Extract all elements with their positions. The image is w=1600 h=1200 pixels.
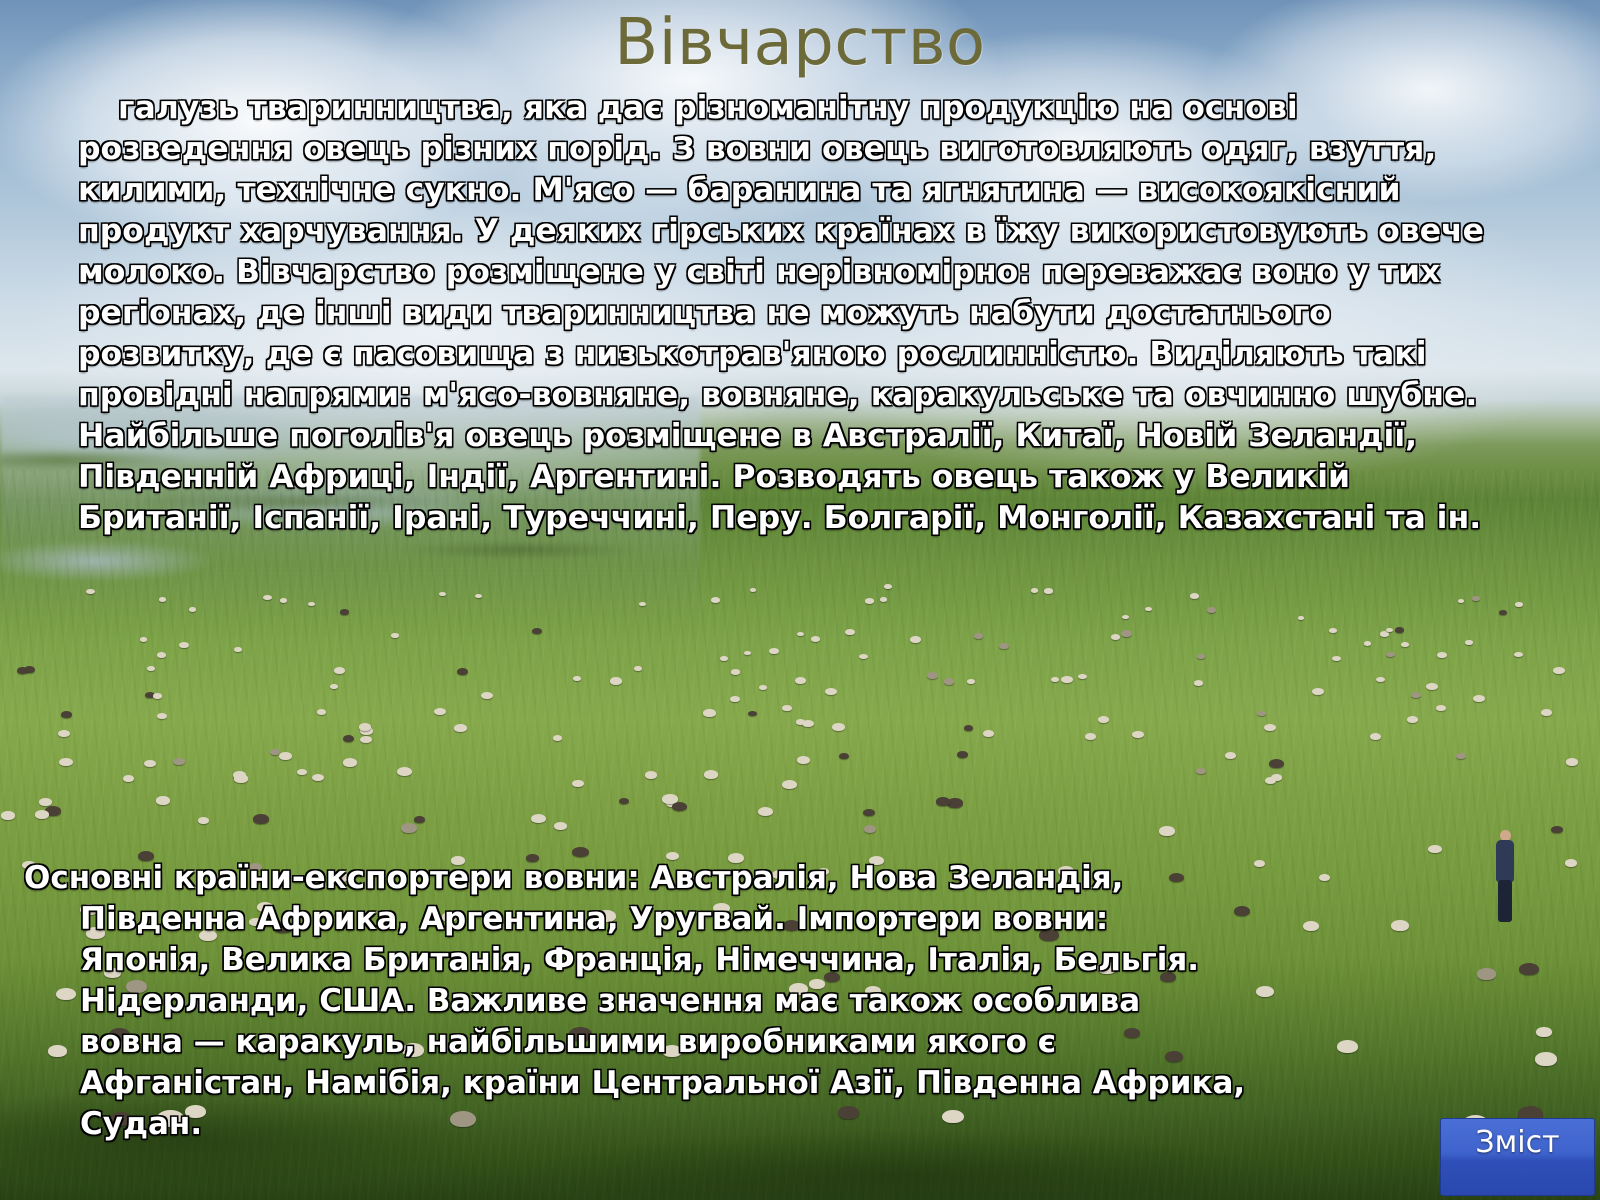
secondary-line: Судан.	[24, 1104, 1576, 1145]
sheep	[147, 666, 155, 671]
sheep	[884, 584, 892, 589]
sheep	[1553, 667, 1565, 674]
sheep	[845, 629, 855, 635]
sheep	[797, 632, 804, 636]
sheep	[253, 814, 269, 824]
sheep	[1472, 596, 1480, 601]
sheep	[797, 756, 810, 764]
page-title: Вівчарство	[0, 6, 1600, 80]
sheep	[1312, 688, 1324, 695]
sheep	[263, 595, 272, 600]
sheep	[711, 597, 720, 603]
sheep	[343, 758, 357, 767]
sheep	[983, 730, 994, 737]
sheep	[434, 708, 446, 715]
sheep	[234, 647, 242, 652]
sheep	[864, 825, 876, 833]
sheep	[1051, 677, 1059, 682]
sheep	[1411, 692, 1421, 698]
secondary-line: Південна Африка, Аргентина, Уругвай. Імп…	[24, 899, 1576, 940]
sheep	[967, 679, 975, 684]
sheep	[330, 684, 338, 689]
sheep	[1111, 634, 1120, 640]
sheep	[944, 678, 954, 685]
sheep	[481, 692, 493, 699]
secondary-line: Японія, Велика Британія, Франція, Німечч…	[24, 940, 1576, 981]
presentation-slide: Вівчарство галузь тваринництва, яка дає …	[0, 0, 1600, 1200]
sheep	[531, 814, 546, 823]
sheep	[748, 711, 757, 716]
sheep	[974, 633, 983, 639]
sheep	[1401, 642, 1409, 647]
main-paragraph-text: галузь тваринництва, яка дає різноманітн…	[78, 90, 1484, 536]
sheep	[1436, 705, 1446, 711]
sheep	[1332, 656, 1341, 661]
sheep	[1395, 627, 1404, 633]
sheep	[880, 597, 887, 602]
sheep	[198, 817, 209, 824]
sheep	[1428, 845, 1442, 853]
sheep	[1364, 641, 1371, 646]
sheep	[308, 602, 315, 606]
sheep	[1551, 826, 1563, 833]
sheep	[634, 666, 642, 671]
sheep	[280, 598, 287, 603]
sheep	[1386, 652, 1395, 657]
sheep	[553, 735, 562, 741]
sheep	[1196, 768, 1206, 774]
sheep	[704, 770, 718, 779]
sheep	[1426, 683, 1438, 690]
sheep	[1514, 652, 1523, 657]
sheep	[17, 667, 28, 674]
sheep	[457, 668, 468, 675]
sheep	[795, 677, 806, 684]
sheep	[401, 823, 417, 833]
sheep	[312, 774, 324, 781]
sheep	[927, 672, 938, 679]
sheep	[639, 602, 646, 606]
sheep	[957, 751, 968, 758]
sheep	[573, 676, 581, 681]
sheep	[1541, 709, 1552, 716]
sheep	[1437, 652, 1447, 658]
sheep	[1566, 758, 1578, 766]
sheep	[1298, 616, 1304, 620]
sheep	[782, 780, 797, 789]
sheep	[1121, 630, 1132, 637]
sheep	[61, 711, 72, 718]
sheep	[159, 597, 166, 602]
sheep	[1044, 588, 1053, 594]
sheep	[1370, 733, 1381, 740]
sheep	[1122, 615, 1129, 619]
sheep	[832, 723, 845, 731]
sheep	[703, 709, 716, 717]
sheep	[39, 798, 52, 806]
sheep	[1132, 731, 1144, 738]
sheep	[1458, 599, 1464, 603]
sheep	[179, 642, 189, 648]
sheep	[334, 667, 345, 674]
sheep	[1465, 640, 1473, 645]
sheep	[863, 809, 875, 816]
sheep	[340, 609, 349, 615]
sheep	[759, 685, 767, 690]
sheep	[359, 723, 371, 731]
sheep	[156, 796, 170, 805]
sheep	[1061, 676, 1073, 683]
sheep	[758, 807, 773, 816]
sheep	[532, 628, 542, 634]
sheep	[360, 736, 372, 743]
sheep	[297, 769, 307, 775]
secondary-line: Нідерланди, США. Важливе значення має та…	[24, 981, 1576, 1022]
sheep	[1269, 759, 1284, 768]
sheep	[744, 651, 751, 655]
sheep	[1456, 753, 1466, 759]
sheep	[35, 810, 49, 819]
sheep	[769, 648, 779, 654]
sheep	[1190, 593, 1199, 599]
sheep	[1515, 602, 1523, 607]
sheep	[1085, 733, 1096, 740]
sheep	[1473, 695, 1485, 702]
sheep	[999, 643, 1009, 649]
sheep	[153, 693, 162, 699]
sheep	[391, 633, 399, 638]
sheep	[672, 802, 687, 811]
sheep	[1376, 677, 1385, 682]
secondary-line: вовна — каракуль, найбільшими виробникам…	[24, 1022, 1576, 1063]
sheep	[1197, 654, 1205, 659]
sheep	[572, 847, 589, 857]
sheep	[317, 709, 326, 715]
sheep	[1329, 628, 1337, 633]
sheep	[454, 724, 467, 732]
sheep	[343, 735, 354, 742]
sheep	[397, 767, 412, 776]
sheep	[123, 775, 134, 782]
sheep	[1207, 607, 1216, 613]
sheep	[1499, 610, 1507, 615]
sheep	[720, 656, 728, 661]
sheep	[1145, 607, 1152, 611]
sheep	[865, 598, 874, 604]
secondary-line: Основні країни-експортери вовни: Австрал…	[24, 858, 1576, 899]
sheep	[1407, 716, 1418, 723]
sheep	[140, 637, 147, 642]
sheep	[86, 589, 95, 594]
sheep	[1194, 680, 1203, 686]
sheep	[1225, 752, 1236, 759]
sheep	[645, 771, 657, 779]
sheep	[811, 636, 820, 642]
sheep	[59, 758, 73, 766]
sheep	[144, 760, 156, 767]
sheep	[859, 654, 868, 659]
sheep	[1098, 716, 1109, 723]
sheep	[610, 677, 622, 685]
sheep	[1265, 777, 1276, 784]
sheep	[157, 652, 166, 658]
sheep	[414, 816, 425, 823]
table-of-contents-button[interactable]: Зміст	[1440, 1118, 1595, 1196]
sheep	[173, 758, 185, 765]
sheep	[58, 730, 70, 737]
sheep	[731, 669, 740, 675]
sheep	[1078, 674, 1087, 679]
sheep	[1159, 826, 1175, 836]
sheep	[619, 798, 629, 804]
sheep	[1031, 588, 1038, 593]
sheep	[936, 797, 950, 806]
sheep	[839, 753, 849, 759]
sheep	[1386, 628, 1393, 632]
sheep	[782, 705, 792, 711]
sheep	[1, 811, 15, 820]
table-of-contents-button-label: Зміст	[1475, 1125, 1559, 1160]
sheep	[910, 636, 921, 643]
sheep	[730, 696, 740, 702]
sheep	[802, 720, 814, 727]
sheep	[439, 592, 446, 596]
sheep	[572, 780, 584, 787]
sheep	[825, 688, 837, 695]
sheep	[750, 588, 756, 592]
sheep	[189, 607, 196, 612]
main-paragraph: галузь тваринництва, яка дає різноманітн…	[78, 88, 1510, 539]
sheep	[475, 594, 482, 598]
secondary-paragraph: Основні країни-експортери вовни: Австрал…	[24, 858, 1576, 1145]
sheep	[1264, 724, 1276, 731]
sheep	[279, 752, 292, 760]
sheep	[157, 713, 167, 719]
sheep	[964, 725, 973, 731]
secondary-line: Афганістан, Намібія, країни Центральної …	[24, 1063, 1576, 1104]
sheep	[554, 822, 567, 830]
sheep	[1257, 711, 1266, 716]
sheep	[234, 774, 248, 783]
